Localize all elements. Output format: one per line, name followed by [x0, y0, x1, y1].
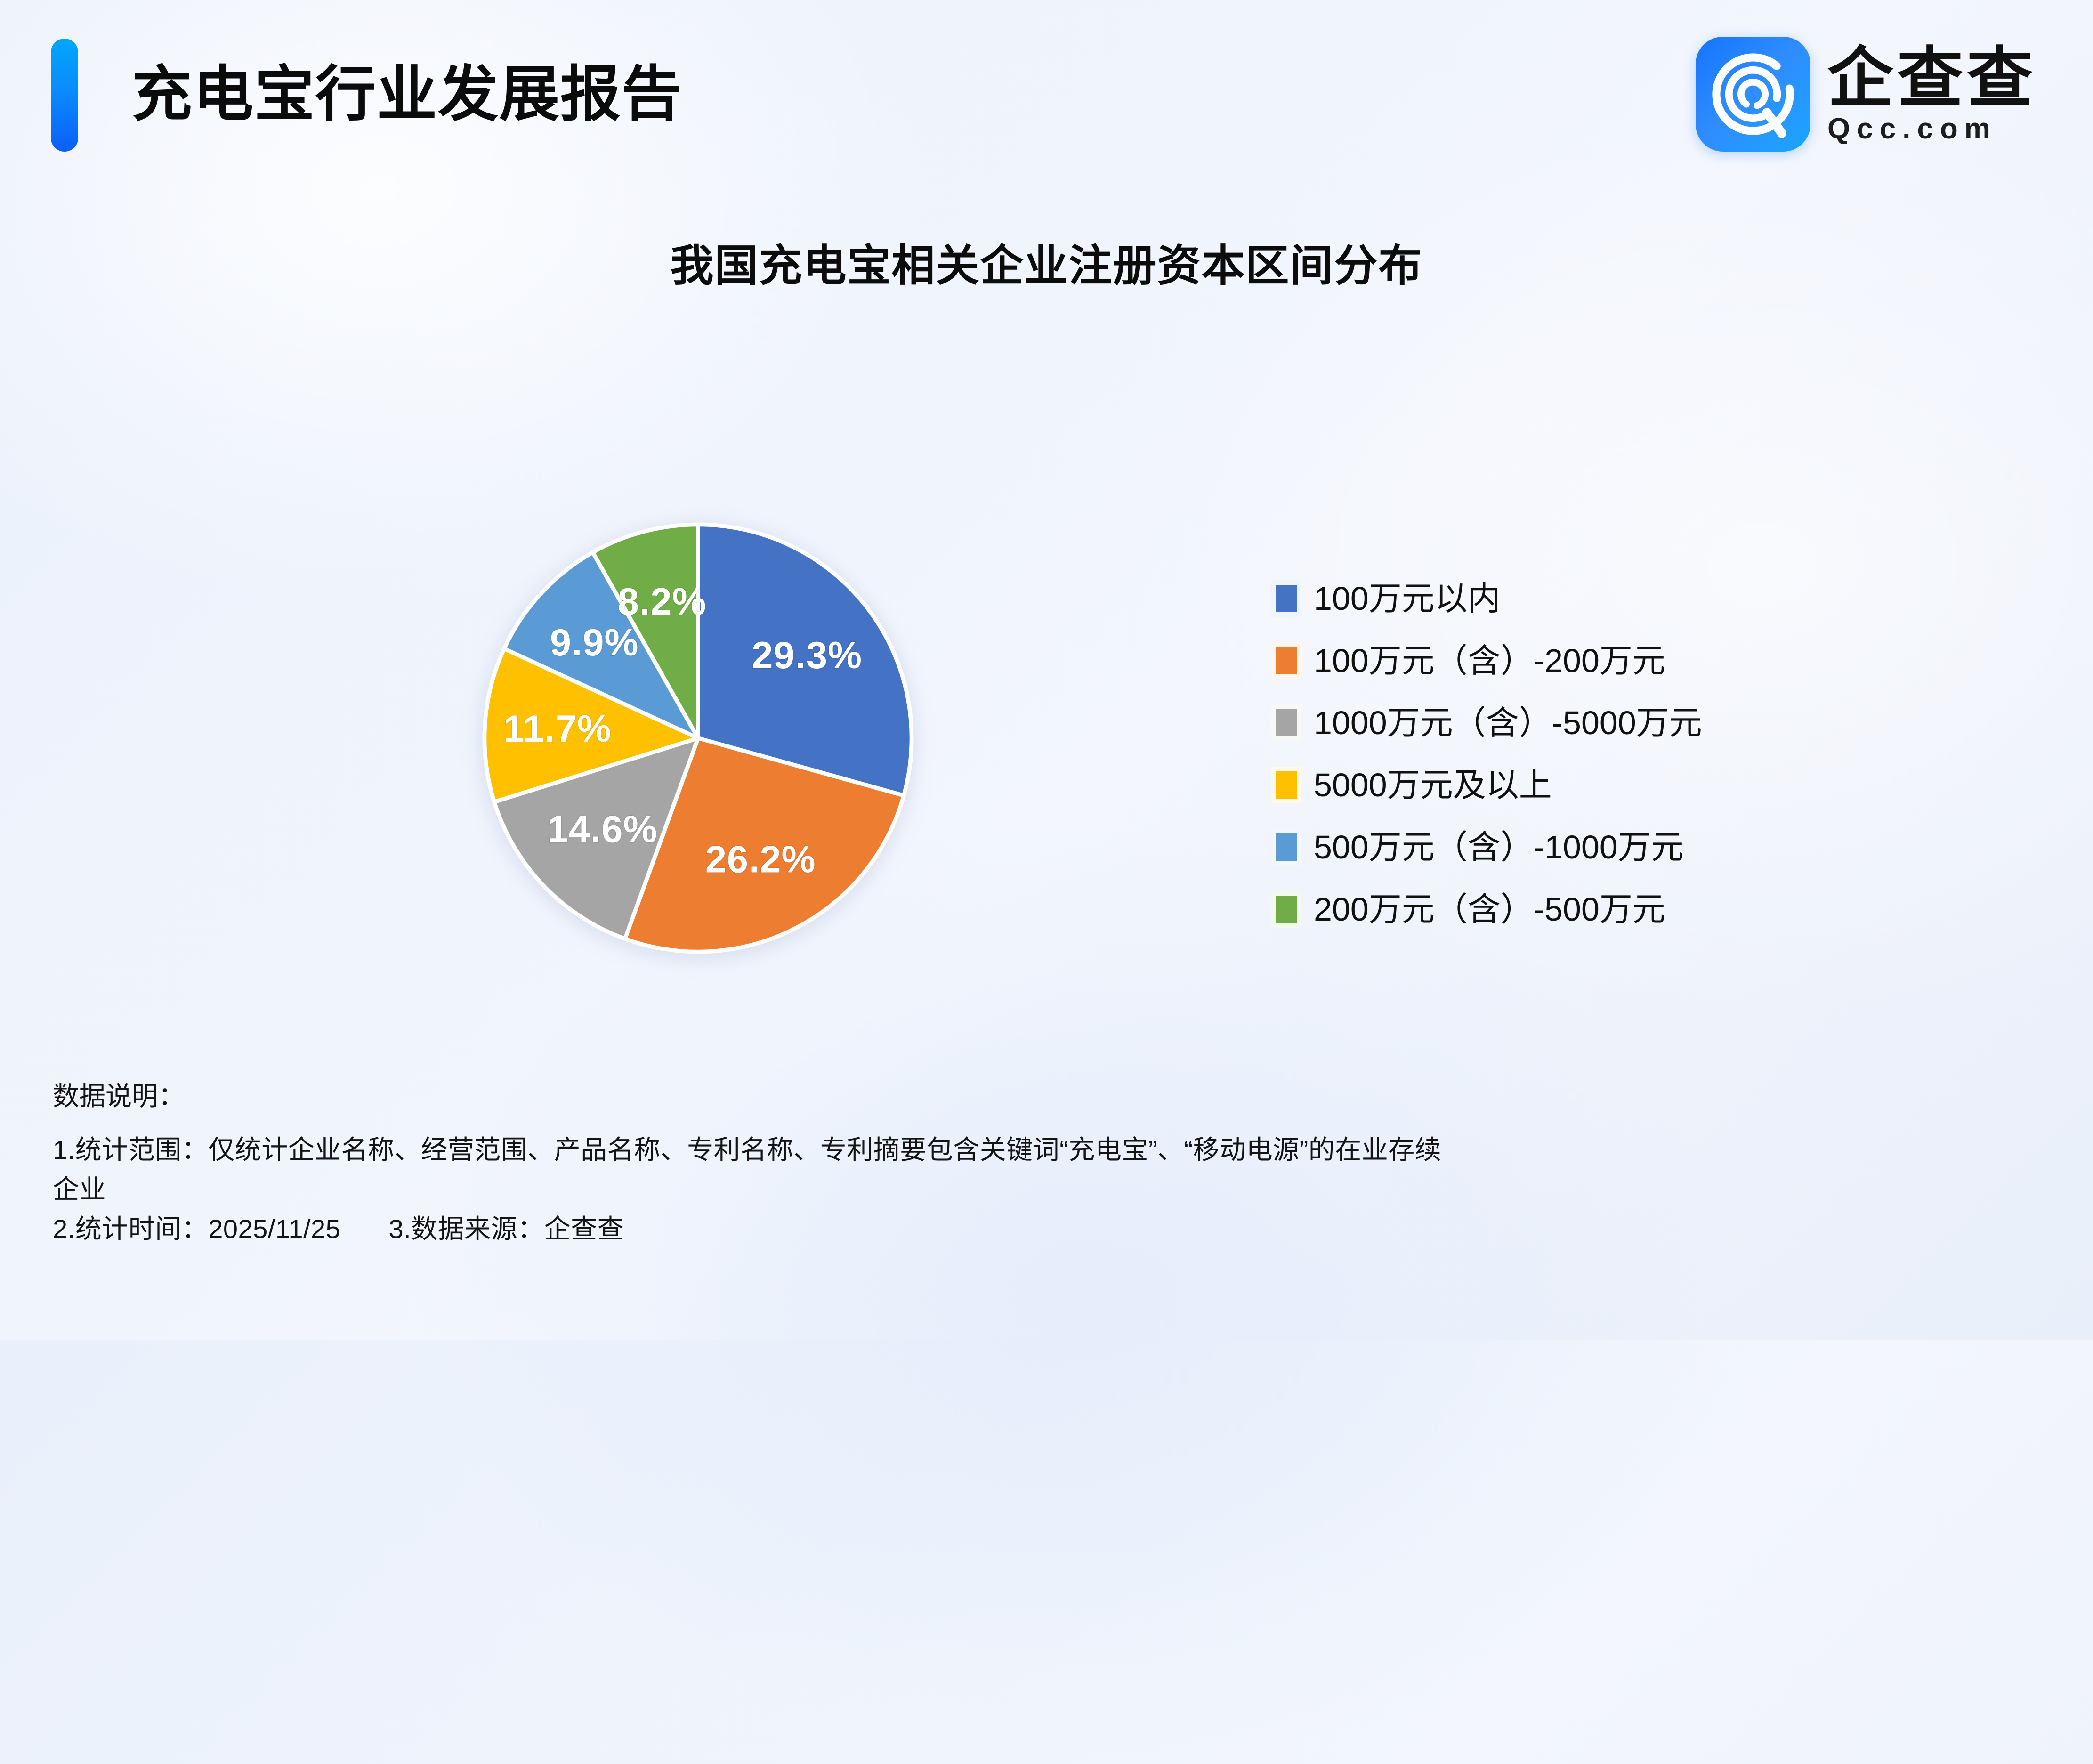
footnote-1-line-2: 企业 — [53, 1170, 2030, 1209]
pie-chart: 29.3%26.2%14.6%11.7%9.9%8.2% — [471, 511, 925, 965]
page-header: 充电宝行业发展报告 企查查 Qcc.com — [0, 0, 2093, 165]
legend-item-5[interactable]: 200万元（含）-500万元 — [1271, 878, 2025, 940]
legend-label-5: 200万元（含）-500万元 — [1314, 893, 1665, 926]
pie-slice-label-3: 11.7% — [503, 708, 612, 750]
footnotes: 数据说明： 1.统计范围：仅统计企业名称、经营范围、产品名称、专利名称、专利摘要… — [53, 1083, 2030, 1249]
footnote-2-and-3: 2.统计时间：2025/11/25 3.数据来源：企查查 — [53, 1209, 2030, 1249]
legend-swatch-icon-5 — [1271, 891, 1301, 928]
footnote-2: 2.统计时间：2025/11/25 — [53, 1214, 340, 1244]
page-title: 充电宝行业发展报告 — [132, 45, 683, 144]
qcc-spiral-q-logo-icon — [1696, 37, 1810, 152]
pie-slice-label-5: 8.2% — [618, 581, 707, 623]
legend-item-3[interactable]: 5000万元及以上 — [1271, 754, 2025, 816]
chart-legend: 100万元以内 100万元（含）-200万元 1000万元（含）-5000万元 … — [1271, 567, 2025, 940]
pie-slice-label-0: 29.3% — [752, 634, 862, 677]
pie-slice-label-4: 9.9% — [550, 622, 639, 664]
legend-label-3: 5000万元及以上 — [1314, 769, 1552, 801]
brand-name-en: Qcc.com — [1827, 114, 1997, 144]
brand-logo: 企查查 Qcc.com — [1696, 37, 2036, 152]
footnote-3: 3.数据来源：企查查 — [388, 1214, 624, 1244]
pie-slice-label-2: 14.6% — [547, 809, 658, 851]
footnote-1-line-1: 1.统计范围：仅统计企业名称、经营范围、产品名称、专利名称、专利摘要包含关键词“… — [53, 1130, 2030, 1170]
legend-swatch-icon-2 — [1271, 704, 1301, 741]
legend-item-1[interactable]: 100万元（含）-200万元 — [1271, 630, 2025, 692]
legend-label-4: 500万元（含）-1000万元 — [1314, 831, 1684, 864]
title-accent-bar — [51, 39, 78, 152]
legend-swatch-icon-4 — [1271, 829, 1301, 866]
legend-label-1: 100万元（含）-200万元 — [1314, 644, 1665, 677]
legend-item-0[interactable]: 100万元以内 — [1271, 567, 2025, 630]
legend-label-0: 100万元以内 — [1314, 582, 1501, 615]
legend-swatch-icon-1 — [1271, 642, 1301, 679]
legend-swatch-icon-0 — [1271, 580, 1301, 617]
pie-slice-label-1: 26.2% — [705, 839, 816, 881]
chart-title: 我国充电宝相关企业注册资本区间分布 — [0, 231, 2093, 293]
footnotes-heading: 数据说明： — [53, 1083, 2030, 1109]
legend-item-2[interactable]: 1000万元（含）-5000万元 — [1271, 692, 2025, 754]
brand-text: 企查查 Qcc.com — [1827, 45, 2036, 144]
legend-swatch-icon-3 — [1271, 767, 1301, 803]
brand-name-cn: 企查查 — [1827, 45, 2036, 112]
legend-label-2: 1000万元（含）-5000万元 — [1314, 706, 1702, 739]
legend-item-4[interactable]: 500万元（含）-1000万元 — [1271, 816, 2025, 878]
